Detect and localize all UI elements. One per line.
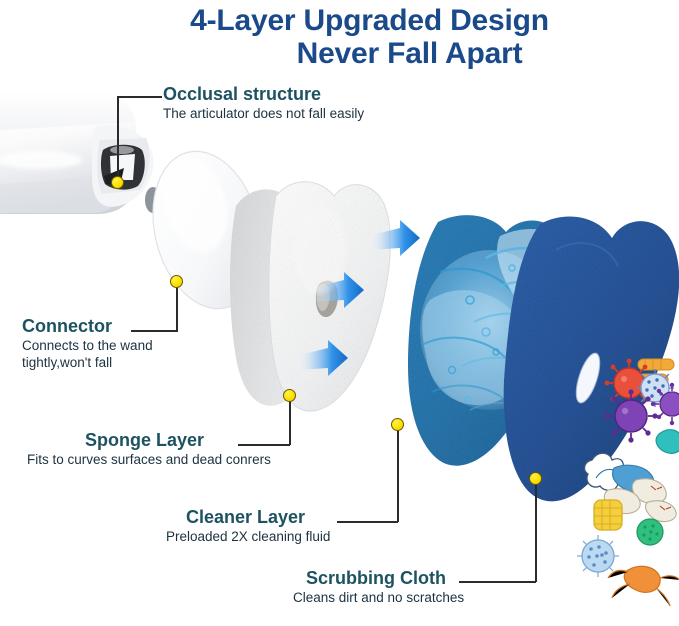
callout-heading-occlusal: Occlusal structure	[163, 84, 364, 105]
callout-dot-cloth[interactable]	[529, 472, 542, 485]
title-line-2: Never Fall Apart	[0, 37, 679, 70]
callout-sponge-layer: Sponge Layer Fits to curves surfaces and…	[27, 430, 271, 468]
callout-description-occlusal: The articulator does not fall easily	[163, 105, 364, 122]
leader-line-cloth-vertical	[535, 484, 537, 582]
germ-virus-purple-2	[604, 389, 657, 442]
leader-line-cloth-horizontal	[459, 581, 536, 583]
leader-line-occlusal-vertical	[117, 96, 119, 184]
leader-line-cleaner-vertical	[397, 430, 399, 522]
page-title: 4-Layer Upgraded Design Never Fall Apart	[0, 4, 679, 70]
sponge-pad-group	[230, 182, 390, 411]
callout-dot-occlusal[interactable]	[111, 176, 124, 189]
title-line-1: 4-Layer Upgraded Design	[0, 4, 679, 37]
germ-flagellate-orange	[608, 566, 679, 606]
germ-ball-lightblue	[577, 535, 619, 577]
leader-line-connector-vertical	[176, 287, 178, 332]
callout-connector: Connector Connects to the wand tightly,w…	[22, 316, 153, 371]
callout-scrubbing-cloth: Scrubbing Cloth Cleans dirt and no scrat…	[293, 568, 464, 606]
callout-description-cleaner: Preloaded 2X cleaning fluid	[166, 528, 330, 545]
germ-ball-green	[637, 519, 663, 545]
germ-teal-comma	[656, 424, 679, 453]
callout-description-sponge: Fits to curves surfaces and dead conrers	[27, 451, 271, 468]
leader-line-occlusal-horizontal	[117, 96, 162, 98]
leader-line-sponge-vertical	[289, 401, 291, 445]
callout-dot-sponge[interactable]	[283, 389, 296, 402]
leader-line-cleaner-horizontal	[337, 521, 398, 523]
callout-heading-cloth: Scrubbing Cloth	[293, 568, 464, 589]
callout-description-connector-line1: Connects to the wand	[22, 337, 153, 354]
callout-cleaner-layer: Cleaner Layer Preloaded 2X cleaning flui…	[166, 507, 330, 545]
callout-description-cloth: Cleans dirt and no scratches	[293, 589, 464, 606]
callout-heading-cleaner: Cleaner Layer	[166, 507, 330, 528]
callout-heading-sponge: Sponge Layer	[27, 430, 271, 451]
callout-dot-connector[interactable]	[170, 275, 183, 288]
germ-capsule-yellow	[594, 500, 622, 530]
callout-description-connector-line2: tightly,won't fall	[22, 354, 153, 371]
infographic-canvas: 4-Layer Upgraded Design Never Fall Apart…	[0, 0, 679, 626]
callout-occlusal-structure: Occlusal structure The articulator does …	[163, 84, 364, 122]
callout-heading-connector: Connector	[22, 316, 153, 337]
wand-handle-group	[0, 92, 153, 214]
callout-dot-cleaner[interactable]	[391, 418, 404, 431]
